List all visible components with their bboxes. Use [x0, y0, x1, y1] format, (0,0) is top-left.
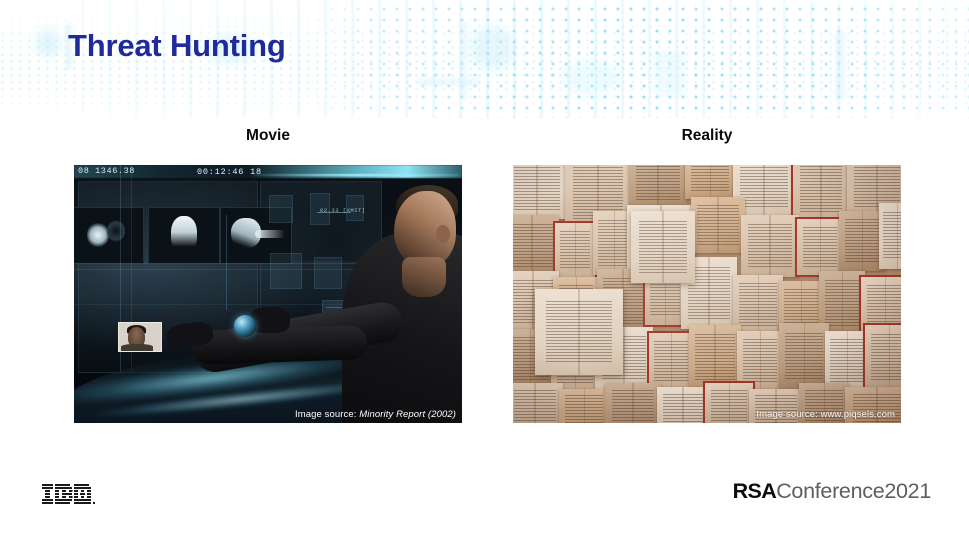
- books-wall: [513, 165, 901, 423]
- page-title: Threat Hunting: [68, 30, 286, 61]
- hud-video-thumb: [74, 207, 144, 264]
- book-page: [649, 333, 693, 389]
- book-page: [657, 387, 709, 423]
- book-page: [865, 325, 901, 391]
- caption-prefix: Image source:: [295, 409, 357, 420]
- movie-image-caption: Image source: Minority Report (2002): [295, 409, 456, 420]
- pattern-blob: [560, 60, 620, 96]
- book-page: [513, 383, 563, 423]
- caption-source: www.piqsels.com: [821, 409, 895, 420]
- movie-image: 08 1346.38 00:12:46 18 02.33 [XMIT] Imag…: [74, 165, 462, 423]
- hud-top-line: [254, 174, 459, 176]
- book-page: [629, 165, 687, 207]
- hud-video-thumb: [148, 207, 220, 264]
- movie-overlay-timecode-center: 00:12:46 18: [197, 167, 262, 177]
- book-page: [513, 165, 567, 219]
- rsa-conference-logo: RSAConference2021: [733, 481, 931, 503]
- person-glove-right: [250, 307, 290, 333]
- caption-source: Minority Report (2002): [359, 409, 456, 420]
- book-page-highlight: [631, 211, 695, 283]
- card-shoulder: [121, 344, 153, 351]
- ibm-logo: [42, 484, 100, 505]
- pattern-blob: [35, 30, 61, 56]
- book-page: [797, 219, 843, 275]
- rsa-wordmark: RSA: [733, 479, 777, 503]
- pattern-blob: [470, 26, 516, 70]
- book-page: [513, 215, 559, 277]
- book-page-highlight: [535, 289, 623, 375]
- pattern-bar: [835, 30, 845, 100]
- book-page: [737, 331, 783, 391]
- reality-image-caption: Image source: www.piqsels.com: [756, 409, 895, 420]
- reality-image: Image source: www.piqsels.com: [513, 165, 901, 423]
- book-page: [879, 203, 901, 269]
- caption-prefix: Image source:: [756, 409, 818, 420]
- book-page: [691, 197, 745, 253]
- column-label-reality: Reality: [513, 127, 901, 145]
- hud-vline: [226, 215, 227, 310]
- pattern-bar: [654, 52, 684, 96]
- hud-orb: [234, 315, 256, 337]
- book-page: [705, 383, 753, 423]
- book-page: [605, 383, 661, 423]
- book-page: [685, 165, 735, 199]
- book-page: [559, 389, 609, 423]
- book-page: [779, 323, 829, 391]
- hud-box: [269, 195, 293, 223]
- slide-canvas: Threat Hunting Movie Reality: [0, 0, 969, 535]
- book-page: [741, 215, 799, 277]
- pattern-bar: [418, 78, 480, 86]
- person-ear: [436, 225, 450, 243]
- movie-overlay-timecode-left: 08 1346.38: [78, 166, 135, 176]
- hud-face-card: [118, 322, 162, 352]
- column-label-movie: Movie: [74, 127, 462, 145]
- book-page: [689, 325, 741, 389]
- book-page: [555, 223, 595, 277]
- hud-box: [314, 257, 342, 289]
- person-neck: [402, 257, 446, 297]
- rsa-conference-year: Conference2021: [776, 479, 931, 503]
- book-page: [825, 331, 869, 391]
- pattern-bar: [460, 22, 467, 100]
- hud-box: [270, 253, 302, 289]
- movie-overlay-small-label: 02.33 [XMIT]: [320, 207, 366, 214]
